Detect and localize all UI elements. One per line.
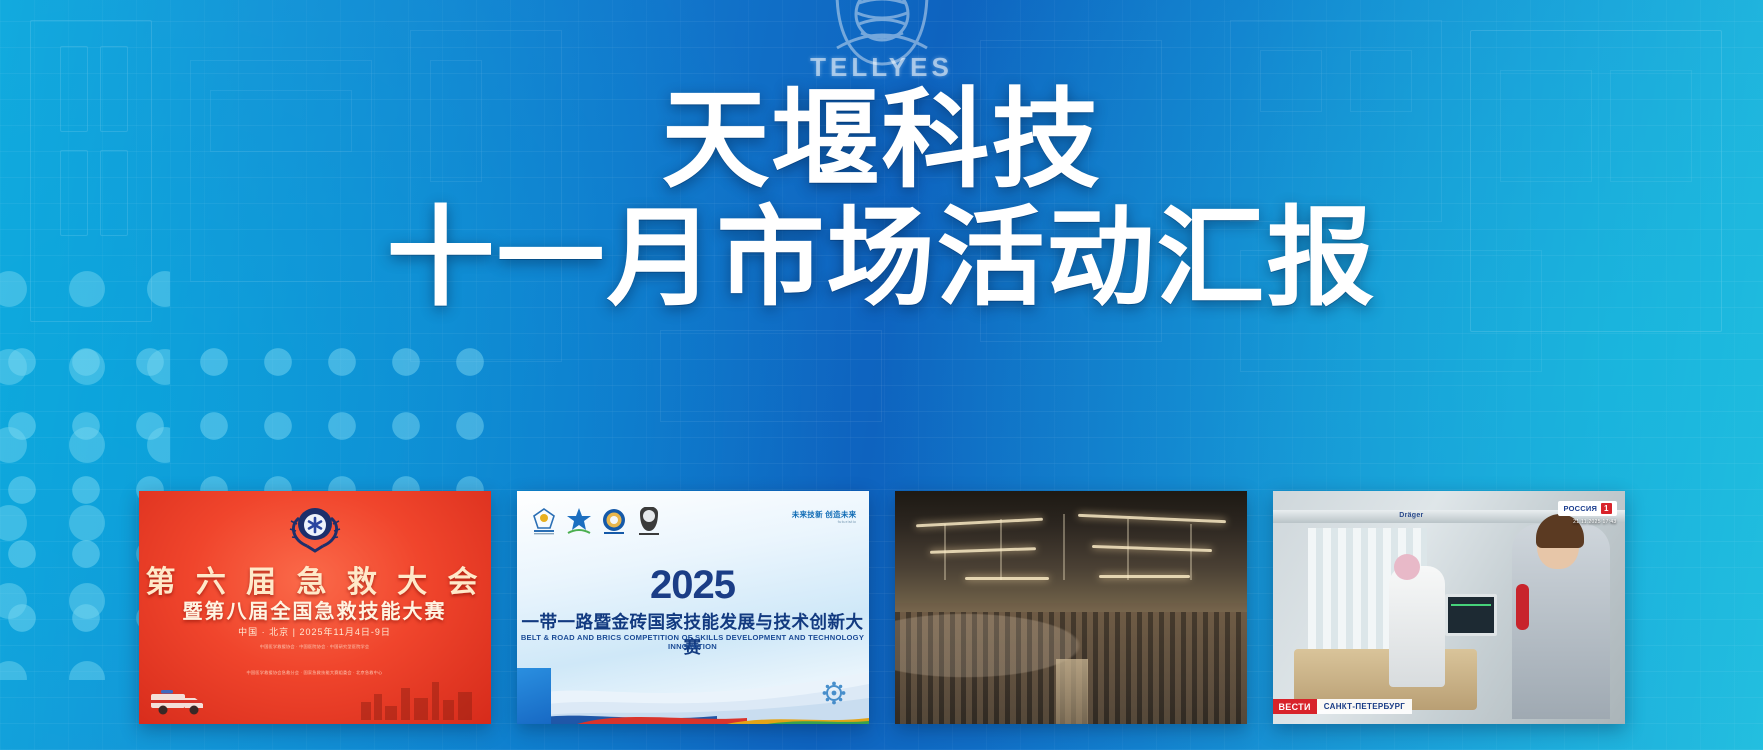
poster-title-en: BELT & ROAD AND BRICS COMPETITION OF SKI… [517,633,869,651]
blueprint-shape [1230,20,1442,222]
poster-slogan: 未来技新 创造未来 futuristic [792,510,857,524]
blueprint-shape [100,46,128,132]
blueprint-shape [1240,250,1542,372]
marketing-banner: TELLYES 天堰科技 十一月市场活动汇报 [0,0,1763,750]
blueprint-shape [1350,50,1412,112]
wave-decoration [517,658,869,724]
light-column [1063,514,1065,579]
blueprint-shape [210,90,352,152]
thumbnail-belt-road-competition[interactable]: 未来技新 创造未来 futuristic 2025 一带一路暨金砖国家技能发展与… [517,491,869,724]
brics-logo [531,507,557,537]
blueprint-shape [660,330,882,422]
emergency-star-of-life-emblem [285,504,345,556]
poster-location-date: 中国 · 北京 | 2025年11月4日-9日 [139,625,491,638]
blueprint-shape [60,46,88,132]
beijing-skyline-icon [357,680,477,720]
ceiling-light [1099,575,1191,578]
page-title-line-2: 十一月市场活动汇报 [0,202,1763,314]
tellyes-logo [636,507,662,537]
blueprint-shape [60,150,88,236]
poster-slogan-en: futuristic [792,519,857,524]
thumbnail-russia-tv-report[interactable]: Dräger РОССИЯ 1 21.11.2025 17:43 ВЕСТИ С… [1273,491,1625,724]
thumbnail-row: 第 六 届 急 救 大 会 暨第八届全国急救技能大赛 中国 · 北京 | 202… [0,490,1763,750]
lower-third: ВЕСТИ САНКТ-ПЕТЕРБУРГ [1273,699,1413,714]
light-column [1127,519,1129,580]
gear-icon [821,680,847,706]
equipment-brand-label: Dräger [1399,512,1423,519]
nurse-figure [1389,566,1445,687]
blueprint-shape [1470,30,1722,332]
lower-third-brand: ВЕСТИ [1273,699,1317,714]
page-title: 天堰科技 十一月市场活动汇报 [0,84,1763,315]
channel-name: РОССИЯ [1563,504,1597,513]
blueprint-shape [100,150,128,236]
blueprint-shape [1610,70,1692,182]
channel-logo: РОССИЯ 1 [1558,501,1616,516]
poster-hosts: 中国医学救援协会急救分会 · 国家急救技能大赛组委会 · 北京急救中心 [139,669,491,677]
blueprint-shape [1260,50,1322,112]
poster-slogan-cn: 未来技新 创造未来 [792,510,857,519]
thumbnail-emergency-conference[interactable]: 第 六 届 急 救 大 会 暨第八届全国急救技能大赛 中国 · 北京 | 202… [139,491,491,724]
light-column [944,524,946,580]
thumbnail-conference-hall[interactable] [895,491,1247,724]
hall-aisle [1056,659,1088,724]
blueprint-shape [30,20,152,322]
blueprint-shape [430,60,482,182]
skills-star-logo [566,507,592,537]
blueprint-shape [190,60,372,282]
page-title-line-1: 天堰科技 [0,84,1763,196]
hall-ceiling [895,491,1247,603]
patient-monitor [1445,594,1497,636]
poster-subtitle: 暨第八届全国急救技能大赛 [139,595,491,624]
lower-third-city: САНКТ-ПЕТЕРБУРГ [1317,699,1412,714]
video-timestamp: 21.11.2025 17:43 [1573,519,1616,525]
light-column [1000,519,1002,580]
poster-year: 2025 [517,563,869,608]
tellyes-wordmark: TELLYES [810,52,953,83]
light-column [1190,524,1192,580]
poster-organizers: 中国医学救援协会 · 中国医院协会 · 中国研究型医院学会 [139,643,491,651]
blueprint-shape [980,40,1162,342]
microphone-icon [1516,584,1529,630]
ceiling-light [965,577,1049,580]
ambulance-icon [149,686,211,716]
blueprint-shape [1500,70,1592,182]
poster-side-block [517,668,551,724]
emblem-round-logo [601,507,627,537]
nurse-head [1394,554,1420,580]
blueprint-shape [410,30,562,362]
channel-number: 1 [1601,503,1611,514]
partner-logos [531,507,662,537]
